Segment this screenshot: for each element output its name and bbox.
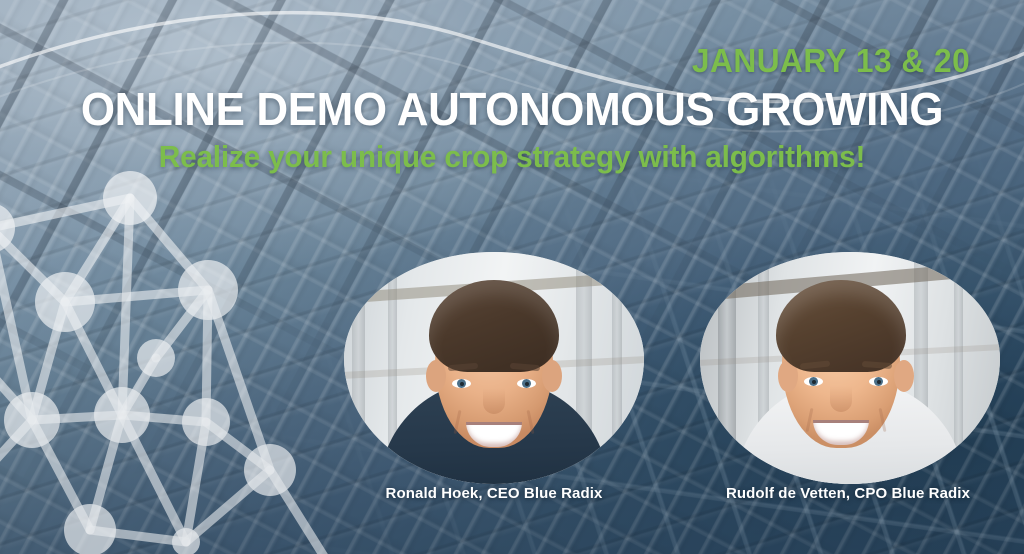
page-title: ONLINE DEMO AUTONOMOUS GROWING [23, 85, 1001, 135]
event-date: JANUARY 13 & 20 [41, 44, 1024, 77]
promo-banner: JANUARY 13 & 20 ONLINE DEMO AUTONOMOUS G… [0, 0, 1024, 554]
portrait-ear-right [894, 360, 914, 392]
page-subtitle: Realize your unique crop strategy with a… [20, 140, 1003, 174]
portrait-ear-left [426, 360, 446, 392]
portrait-eye-left [452, 379, 471, 388]
portrait-eye-left [804, 377, 823, 386]
headline-block: JANUARY 13 & 20 ONLINE DEMO AUTONOMOUS G… [0, 44, 1024, 174]
avatar-mask [700, 252, 1000, 484]
network-node-graph [0, 170, 390, 554]
portrait-nose [483, 388, 505, 414]
portrait-ear-right [542, 360, 562, 392]
speaker-caption-rudolf: Rudolf de Vetten, CPO Blue Radix [688, 485, 1008, 502]
speaker-photo-ronald [344, 252, 644, 484]
speaker-caption-ronald: Ronald Hoek, CEO Blue Radix [334, 485, 654, 502]
speaker-photo-rudolf [700, 252, 1000, 484]
portrait-eye-right [869, 377, 888, 386]
avatar-mask [344, 252, 644, 484]
portrait-nose [830, 386, 852, 412]
portrait-eye-right [517, 379, 536, 388]
